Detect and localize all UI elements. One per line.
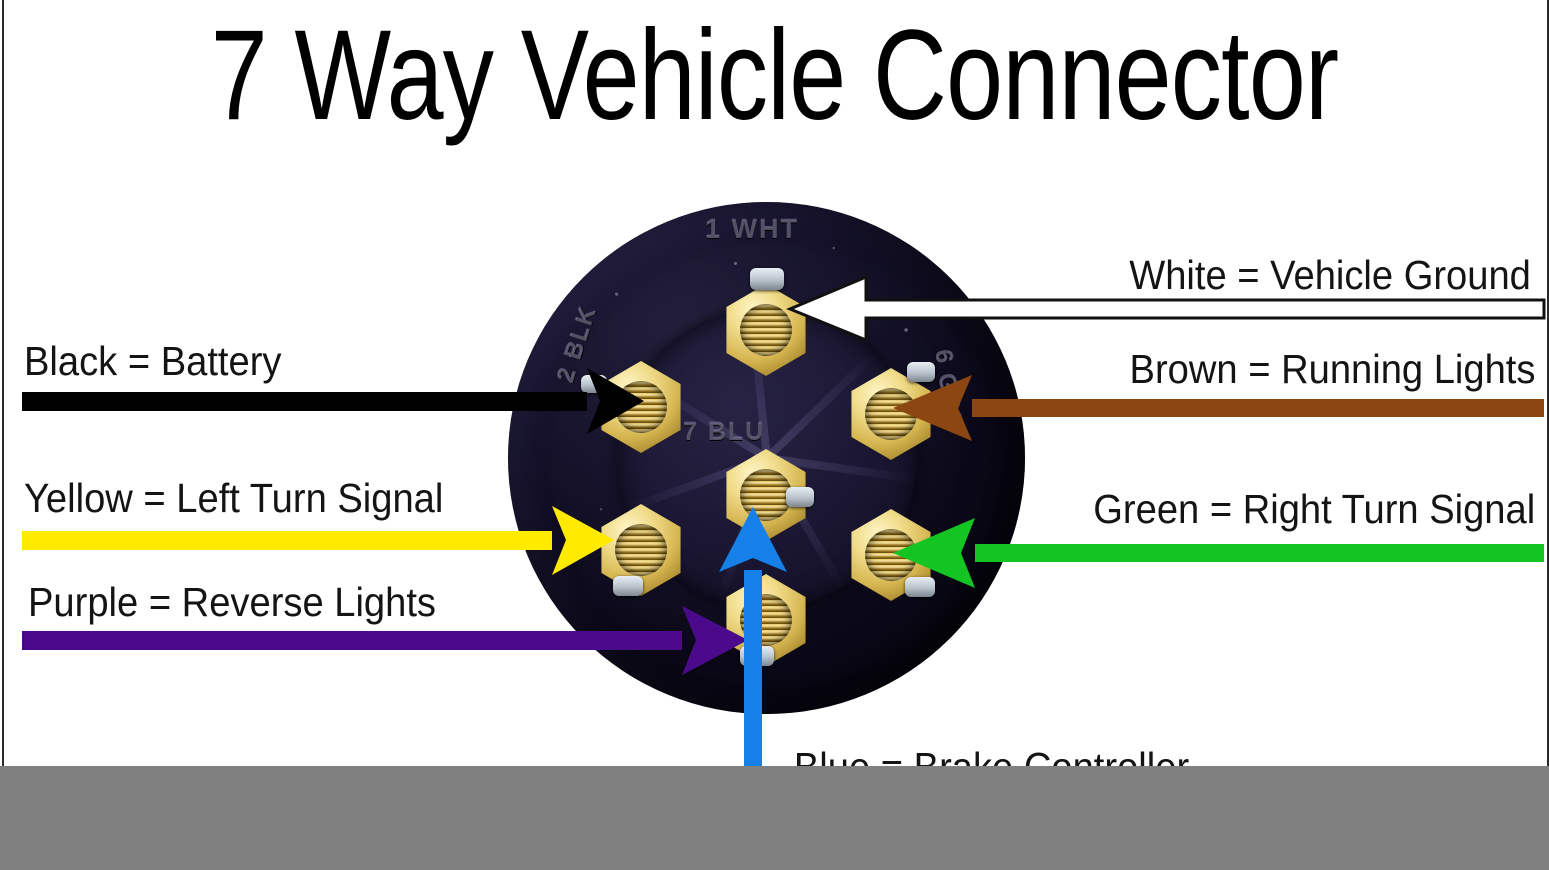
label-purple-reverse-lights: Purple = Reverse Lights [28, 579, 436, 626]
terminal-blue-brake-controller [720, 449, 812, 541]
label-white-vehicle-ground: White = Vehicle Ground [1129, 252, 1531, 299]
terminal-screw-core [865, 388, 917, 440]
terminal-purple-reverse-lights [720, 574, 812, 666]
page-border-left [2, 0, 4, 766]
terminal-screw-head [613, 576, 643, 596]
terminal-screw-head [905, 577, 935, 597]
seven-way-connector-image: 1 WHT 7 BLU 6 GRN 2 BLK [508, 202, 1025, 714]
terminal-black-battery [595, 361, 687, 453]
terminal-screw-core [615, 524, 667, 576]
terminal-screw-head [907, 362, 935, 382]
molded-label-1-wht: 1 WHT [705, 214, 799, 245]
terminal-screw-core [740, 304, 792, 356]
label-green-right-turn: Green = Right Turn Signal [1093, 486, 1535, 533]
terminal-screw-core [740, 469, 792, 521]
terminal-screw-core [615, 381, 667, 433]
label-brown-running-lights: Brown = Running Lights [1129, 346, 1535, 393]
terminal-screw-core [740, 594, 792, 646]
molded-label-7-blu: 7 BLU [683, 418, 765, 447]
page-title: 7 Way Vehicle Connector [155, 12, 1394, 140]
terminal-screw-core [865, 529, 917, 581]
terminal-brown-running-lights [845, 368, 937, 460]
terminal-screw-head [740, 646, 774, 666]
bottom-gray-bar [0, 766, 1549, 870]
terminal-white-ground [720, 284, 812, 376]
label-yellow-left-turn: Yellow = Left Turn Signal [24, 475, 443, 522]
diagram-page: 7 Way Vehicle Connector 1 WHT 7 BLU 6 GR… [0, 0, 1549, 870]
terminal-green-right-turn [845, 509, 937, 601]
terminal-screw-head [750, 268, 784, 290]
terminal-yellow-left-turn [595, 504, 687, 596]
label-black-battery: Black = Battery [24, 338, 281, 385]
terminal-screw-head [786, 487, 814, 507]
terminal-screw-head [581, 375, 607, 393]
